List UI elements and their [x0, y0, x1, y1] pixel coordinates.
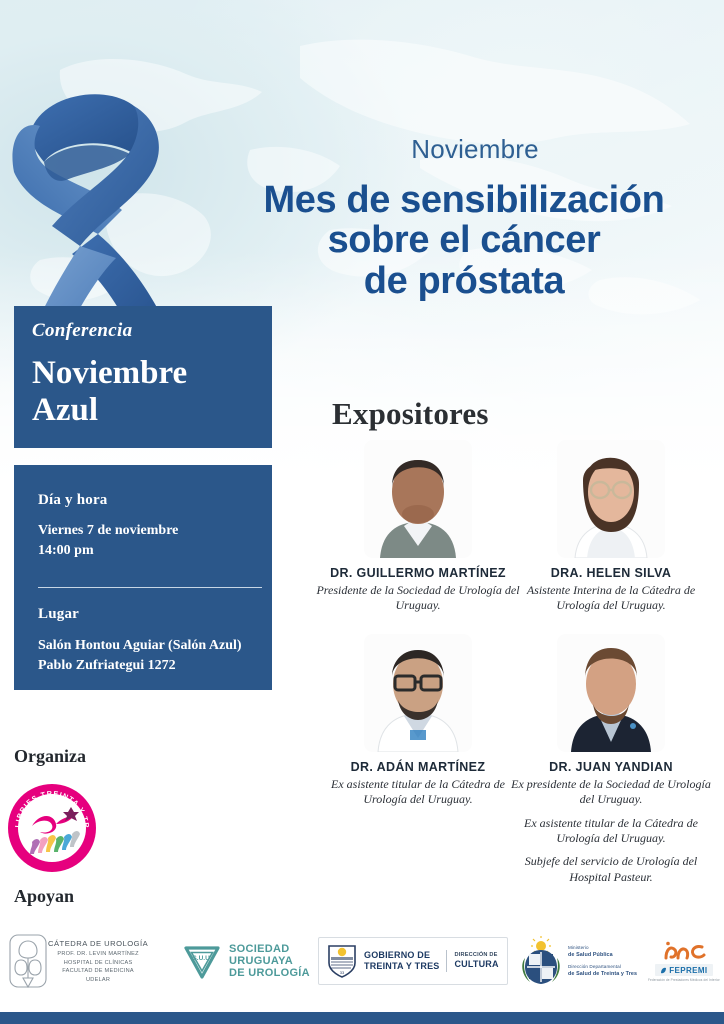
speakers-heading: Expositores — [332, 396, 489, 432]
catedra-line-3: HOSPITAL DE CLÍNICAS — [48, 959, 148, 967]
headline-line-3: de próstata — [218, 261, 710, 301]
speaker-roles: Asistente Interina de la Cátedra de Urol… — [505, 583, 717, 614]
speaker-card: DR. GUILLERMO MARTÍNEZ Presidente de la … — [312, 440, 524, 614]
conference-title-line-1: Noviembre — [32, 355, 262, 392]
speaker-name: DRA. HELEN SILVA — [505, 566, 717, 581]
speaker-card: DR. JUAN YANDIAN Ex presidente de la Soc… — [505, 634, 717, 885]
conference-title-line-2: Azul — [32, 392, 262, 429]
date-label: Día y hora — [38, 492, 108, 509]
avatar-icon — [364, 440, 472, 558]
date-line-1: Viernes 7 de noviembre — [38, 521, 264, 541]
place-line-2: Pablo Zufriategui 1272 — [38, 656, 264, 676]
inc-mark-icon — [661, 940, 707, 962]
gobierno-line-1: GOBIERNO DE — [364, 950, 439, 961]
suu-triangle-icon: S.U.U. — [182, 941, 222, 981]
speaker-name: DR. ADÁN MARTÍNEZ — [312, 760, 524, 775]
speaker-name: DR. JUAN YANDIAN — [505, 760, 717, 775]
conference-label: Conferencia — [32, 320, 132, 342]
speaker-role: Ex presidente de la Sociedad de Urología… — [505, 777, 717, 808]
suu-line-2: URUGUAYA — [229, 955, 310, 967]
colibries-treinta-y-tres-logo-icon: COLIBRIES TREINTA Y TRES — [6, 782, 98, 874]
fepremi-subtitle: Federación de Prestadores Médicos del In… — [648, 978, 720, 982]
poster-root: Noviembre Mes de sensibilización sobre e… — [0, 0, 724, 1024]
msp-line-1: Ministerio — [568, 944, 637, 951]
avatar-icon — [557, 634, 665, 752]
speaker-role: Ex asistente titular de la Cátedra de Ur… — [312, 777, 524, 808]
catedra-line-2: PROF. DR. LEVIN MARTÍNEZ — [48, 950, 148, 958]
cultura-text: DIRECCIÓN DE CULTURA — [454, 952, 498, 971]
panel-divider — [38, 587, 262, 588]
speaker-role: Presidente de la Sociedad de Urología de… — [312, 583, 524, 614]
page-kicker: Noviembre — [240, 134, 710, 165]
conference-title: Noviembre Azul — [32, 355, 262, 429]
footer-bar — [0, 1012, 724, 1024]
speaker-card: DR. ADÁN MARTÍNEZ Ex asistente titular d… — [312, 634, 524, 808]
cultura-line-1: DIRECCIÓN DE — [454, 952, 498, 959]
sponsor-logos: CÁTEDRA DE UROLOGÍA PROF. DR. LEVIN MART… — [0, 928, 724, 994]
sponsor-catedra-urologia: CÁTEDRA DE UROLOGÍA PROF. DR. LEVIN MART… — [8, 928, 148, 994]
place-value: Salón Hontou Aguiar (Salón Azul) Pablo Z… — [38, 636, 264, 676]
catedra-line-4: FACULTAD DE MEDICINA — [48, 967, 148, 975]
treinta-y-tres-shield-icon: 33 — [327, 943, 357, 979]
kidney-outline-icon — [8, 933, 48, 989]
speaker-role: Subjefe del servicio de Urología del Hos… — [505, 854, 717, 885]
date-value: Viernes 7 de noviembre 14:00 pm — [38, 521, 264, 561]
speaker-photo — [557, 634, 665, 752]
fepremi-wordmark: FEPREMI — [655, 964, 712, 976]
cultura-line-2: CULTURA — [454, 959, 498, 971]
suu-line-1: SOCIEDAD — [229, 943, 310, 955]
catedra-line-1: CÁTEDRA DE UROLOGÍA — [48, 938, 148, 949]
place-line-1: Salón Hontou Aguiar (Salón Azul) — [38, 636, 264, 656]
speaker-roles: Presidente de la Sociedad de Urología de… — [312, 583, 524, 614]
sponsor-gobierno-treinta-y-tres: 33 GOBIERNO DE TREINTA Y TRES DIRECCIÓN … — [318, 928, 508, 994]
speaker-role: Ex asistente titular de la Cátedra de Ur… — [505, 816, 717, 847]
speaker-card: DRA. HELEN SILVA Asistente Interina de l… — [505, 440, 717, 614]
fepremi-logo: FEPREMI Federación de Prestadores Médico… — [648, 940, 720, 982]
headline-line-2: sobre el cáncer — [218, 220, 710, 260]
fepremi-leaf-icon — [660, 967, 667, 974]
sponsor-ministerio-salud-publica: Ministerio de Salud Pública Dirección De… — [520, 928, 637, 994]
msp-text: Ministerio de Salud Pública Dirección De… — [568, 944, 637, 979]
fepremi-name: FEPREMI — [669, 966, 707, 975]
speaker-photo — [364, 440, 472, 558]
apoyan-heading: Apoyan — [14, 886, 74, 907]
msp-line-3: Dirección Departamental — [568, 963, 637, 970]
speaker-roles: Ex asistente titular de la Cátedra de Ur… — [312, 777, 524, 808]
gobierno-logo-box: 33 GOBIERNO DE TREINTA Y TRES DIRECCIÓN … — [318, 937, 508, 985]
suu-line-3: DE UROLOGÍA — [229, 967, 310, 979]
speaker-roles: Ex presidente de la Sociedad de Urología… — [505, 777, 717, 885]
avatar-icon — [557, 440, 665, 558]
catedra-line-5: UDELAR — [48, 976, 148, 984]
headline-line-1: Mes de sensibilización — [218, 180, 710, 220]
avatar-icon — [364, 634, 472, 752]
speaker-photo — [557, 440, 665, 558]
msp-line-2: de Salud Pública — [568, 952, 613, 958]
page-title: Mes de sensibilización sobre el cáncer d… — [218, 180, 710, 301]
organiza-heading: Organiza — [14, 746, 86, 767]
sponsor-sociedad-uruguaya-urologia: S.U.U. SOCIEDAD URUGUAYA DE UROLOGÍA — [182, 928, 310, 994]
place-label: Lugar — [38, 606, 79, 623]
suu-mark-text: S.U.U. — [192, 955, 211, 962]
suu-text: SOCIEDAD URUGUAYA DE UROLOGÍA — [229, 943, 310, 980]
speaker-photo — [364, 634, 472, 752]
gobierno-divider — [446, 950, 447, 972]
gobierno-line-2: TREINTA Y TRES — [364, 961, 439, 972]
speaker-name: DR. GUILLERMO MARTÍNEZ — [312, 566, 524, 581]
date-line-2: 14:00 pm — [38, 541, 264, 561]
sponsor-fepremi: FEPREMI Federación de Prestadores Médico… — [648, 928, 720, 994]
speaker-role: Asistente Interina de la Cátedra de Urol… — [505, 583, 717, 614]
svg-text:33: 33 — [340, 970, 345, 975]
gobierno-text: GOBIERNO DE TREINTA Y TRES — [364, 950, 439, 971]
msp-line-4: de Salud de Treinta y Tres — [568, 971, 637, 977]
uruguay-coat-of-arms-icon — [520, 936, 562, 986]
catedra-text: CÁTEDRA DE UROLOGÍA PROF. DR. LEVIN MART… — [48, 938, 148, 984]
